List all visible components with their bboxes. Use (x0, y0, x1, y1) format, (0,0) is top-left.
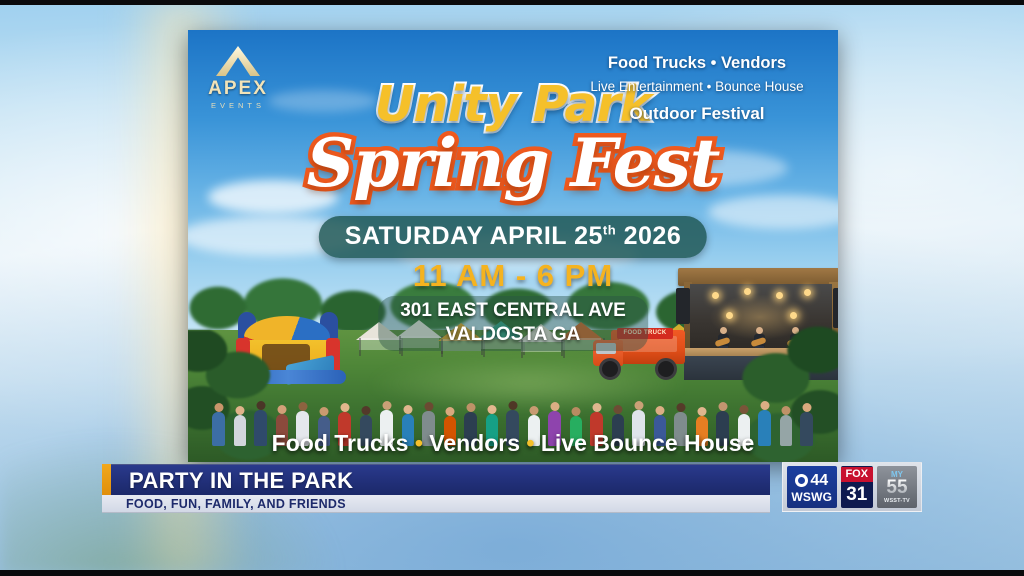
event-poster: FOOD TRUCK (188, 30, 838, 462)
my-channel-number: 55 (886, 479, 907, 497)
person-head (488, 405, 497, 414)
person-head (802, 403, 811, 412)
person-head (634, 401, 643, 410)
date-prefix: SATURDAY APRIL 25 (345, 222, 603, 250)
address-line-2: VALDOSTA GA (400, 323, 626, 347)
stage-light-icon (726, 312, 733, 319)
person-head (698, 407, 707, 416)
stage-speaker (833, 288, 838, 328)
station-logo-bug: 44 WSWG FOX 31 MY 55 WSST-TV (782, 462, 922, 512)
person-head (508, 401, 517, 410)
person-head (362, 406, 371, 415)
bottom-letterbox (0, 570, 1024, 576)
lower-third-subtitle-bar: FOOD, FUN, FAMILY, AND FRIENDS (102, 495, 770, 513)
event-time: 11 AM - 6 PM (188, 258, 838, 294)
person-head (278, 405, 287, 414)
poster-feature-list: Food Trucks • Vendors Live Entertainment… (572, 52, 822, 126)
top-letterbox (0, 0, 1024, 5)
feature-line-1: Food Trucks • Vendors (572, 52, 822, 74)
person-head (320, 407, 329, 416)
station-logo-wswg: 44 WSWG (787, 466, 837, 508)
cbs-eye-icon (795, 474, 808, 487)
fox-wordmark: FOX (841, 467, 873, 482)
person-head (236, 406, 245, 415)
lower-third-banner: PARTY IN THE PARK FOOD, FUN, FAMILY, AND… (102, 464, 770, 512)
person-head (572, 407, 581, 416)
cbs-callsign: WSWG (791, 491, 832, 503)
date-year: 2026 (624, 222, 682, 250)
bottom-item-2: Vendors (429, 430, 520, 456)
fox-channel-number: 31 (846, 482, 867, 507)
date-ordinal: th (603, 223, 616, 238)
lower-third-headline-bar: PARTY IN THE PARK (111, 464, 770, 496)
address-line-1: 301 EAST CENTRAL AVE (400, 299, 626, 323)
person-head (656, 406, 665, 415)
bottom-item-1: Food Trucks (272, 430, 409, 456)
apex-mountain-icon (216, 46, 260, 76)
person-head (214, 403, 223, 412)
bottom-item-3: Live Bounce House (541, 430, 754, 456)
person-head (404, 405, 413, 414)
station-logo-fox31: FOX 31 (841, 466, 873, 508)
event-date-badge: SATURDAY APRIL 25th 2026 (319, 216, 707, 258)
person-head (782, 406, 791, 415)
my-callsign: WSST-TV (884, 497, 910, 505)
person-head (340, 403, 349, 412)
feature-line-2: Live Entertainment • Bounce House (572, 78, 822, 96)
lower-third-subtitle: FOOD, FUN, FAMILY, AND FRIENDS (126, 497, 346, 511)
person-head (592, 403, 601, 412)
poster-bottom-banner: Food Trucks • Vendors • Live Bounce Hous… (188, 430, 838, 457)
person-head (740, 405, 749, 414)
person-head (446, 407, 455, 416)
person-head (256, 401, 265, 410)
person-head (550, 402, 559, 411)
poster-title-line2: Spring Fest (188, 124, 838, 202)
lower-third-headline: PARTY IN THE PARK (129, 468, 353, 494)
bottom-separator: • (526, 430, 534, 456)
lower-third-accent-bar (102, 464, 111, 495)
cbs-channel-number: 44 (810, 473, 828, 489)
person-head (382, 401, 391, 410)
station-logo-my55: MY 55 WSST-TV (877, 466, 917, 508)
person-head (298, 402, 307, 411)
event-address: 301 EAST CENTRAL AVE VALDOSTA GA (378, 296, 648, 351)
stage-light-icon (790, 312, 797, 319)
broadcast-frame: FOOD TRUCK (0, 0, 1024, 576)
feature-line-3: Outdoor Festival (572, 103, 822, 126)
person-head (718, 402, 727, 411)
person-head (466, 403, 475, 412)
person-head (424, 402, 433, 411)
person-head (760, 401, 769, 410)
cbs-logo-row: 44 (795, 473, 828, 489)
person-head (614, 405, 623, 414)
person-head (676, 403, 685, 412)
person-head (530, 406, 539, 415)
bottom-separator: • (415, 430, 423, 456)
